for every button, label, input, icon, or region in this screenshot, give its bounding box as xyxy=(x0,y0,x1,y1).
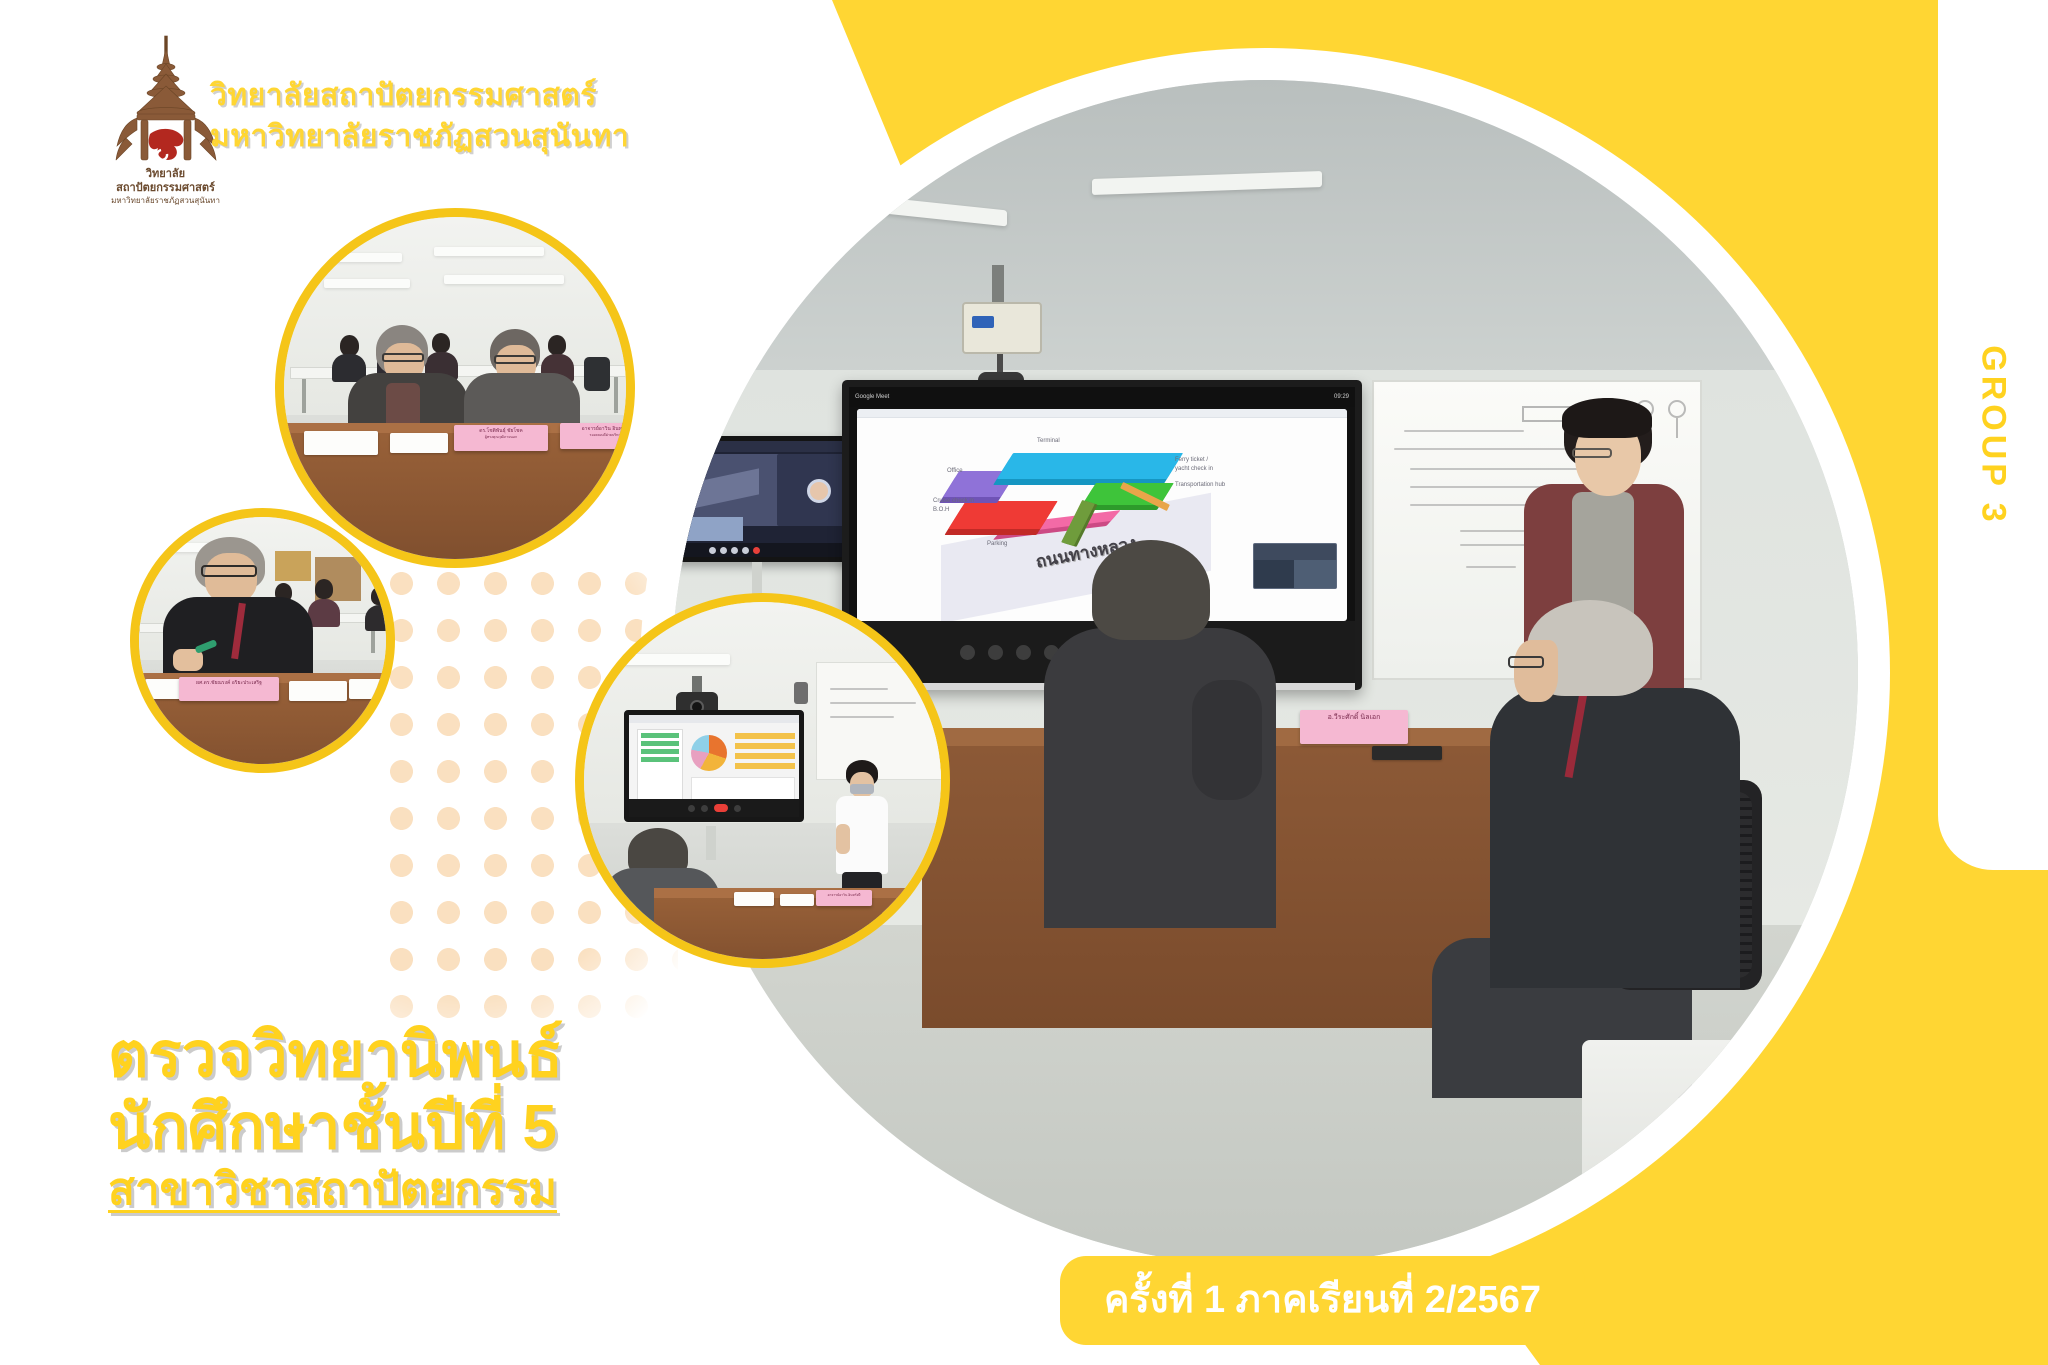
nameplate-name: อ.วีระศักดิ์ นิลเอก xyxy=(1300,713,1408,722)
nameplate: อ.วีระศักดิ์ นิลเอก xyxy=(1300,710,1408,744)
student-presenting-photo: อาจารย์อาวิน อินทรังษี xyxy=(575,593,950,968)
slide-label-hub: Transportation hub xyxy=(1175,482,1225,488)
group-tab: GROUP 3 xyxy=(1938,0,2048,870)
poster-title-block: ตรวจวิทยานิพนธ์ นักศึกษาชั้นปีที่ 5 สาขา… xyxy=(108,1020,563,1217)
display-app-label: Google Meet xyxy=(855,394,889,400)
slide-label-cruise: Cruise check in B.O.H xyxy=(933,497,991,515)
logo-caption-line2: สถาปัตยกรรมศาสตร์ xyxy=(78,182,253,196)
logo-caption-line1: วิทยาลัย xyxy=(78,168,253,182)
poster-canvas: Google Meet 09:29 ถนนทางหลวง Terminal Of… xyxy=(0,0,2048,1365)
title-line-3: สาขาวิชาสถาปัตยกรรม xyxy=(108,1164,563,1217)
slide-label-cruise-line1: Cruise check in xyxy=(933,498,974,504)
video-call-pip xyxy=(1253,543,1337,589)
display-clock: 09:29 xyxy=(1334,394,1349,400)
examiner-right xyxy=(1490,688,1740,988)
slide-label-ferry-line2: yacht check in xyxy=(1175,466,1213,472)
nameplate-name: ผศ.ดร.ชัยณรงค์ อริยะประเสริฐ xyxy=(179,680,279,687)
slide-label-terminal: Terminal xyxy=(1037,438,1060,444)
logo-caption-line3: มหาวิทยาลัยราชภัฏสวนสุนันทา xyxy=(78,196,253,206)
jury-panel-photo: ดร.โชติพันธุ์ ชัยโชค ผู้ทรงคุณวุฒิภายนอก… xyxy=(275,208,635,568)
header-line-2: มหาวิทยาลัยราชภัฏสวนสุนันทา xyxy=(210,117,629,158)
slide-label-ferry: Ferry ticket / yacht check in xyxy=(1175,456,1239,474)
nameplate-role: ผู้ทรงคุณวุฒิภายนอก xyxy=(454,435,548,440)
header-line-1: วิทยาลัยสถาปัตยกรรมศาสตร์ xyxy=(210,76,629,117)
present-icon[interactable] xyxy=(1016,645,1031,660)
header-text-block: วิทยาลัยสถาปัตยกรรมศาสตร์ มหาวิทยาลัยราช… xyxy=(210,76,629,157)
slide-label-office: Office xyxy=(947,468,963,474)
nameplate: ผศ.ดร.ชัยณรงค์ อริยะประเสริฐ xyxy=(179,677,279,701)
examiner-writing-photo: ผศ.ดร.ชัยณรงค์ อริยะประเสริฐ xyxy=(130,508,395,773)
session-badge-label: ครั้งที่ 1 ภาคเรียนที่ 2/2567 xyxy=(1104,1279,1541,1321)
camera-icon[interactable] xyxy=(988,645,1003,660)
projector-icon xyxy=(962,302,1042,354)
display-status-bar: Google Meet 09:29 xyxy=(849,387,1355,407)
foreground-table xyxy=(1582,1040,1858,1266)
slide-label-ferry-line1: Ferry ticket / xyxy=(1175,457,1208,463)
nameplate-name: อาจารย์อาวิน อินทรังษี xyxy=(816,893,872,897)
nameplate-role: รองคณบดีฝ่ายบริหาร xyxy=(560,433,635,438)
slide-label-cruise-line2: B.O.H xyxy=(933,507,949,513)
nameplate: อาจารย์อาวิน อินทรังษี xyxy=(816,890,872,906)
group-tab-label: GROUP 3 xyxy=(1974,345,2013,525)
nameplate: ดร.โชติพันธุ์ ชัยโชค ผู้ทรงคุณวุฒิภายนอก xyxy=(454,425,548,451)
nameplate: อาจารย์อาวิน อินทรังษี รองคณบดีฝ่ายบริหา… xyxy=(560,423,635,449)
title-line-2: นักศึกษาชั้นปีที่ 5 xyxy=(108,1092,563,1164)
slide-label-parking: Parking xyxy=(987,541,1007,547)
session-badge: ครั้งที่ 1 ภาคเรียนที่ 2/2567 xyxy=(1060,1256,1585,1345)
mic-icon[interactable] xyxy=(960,645,975,660)
title-line-1: ตรวจวิทยานิพนธ์ xyxy=(108,1020,563,1092)
ssru-architecture-crest-icon xyxy=(106,34,226,166)
